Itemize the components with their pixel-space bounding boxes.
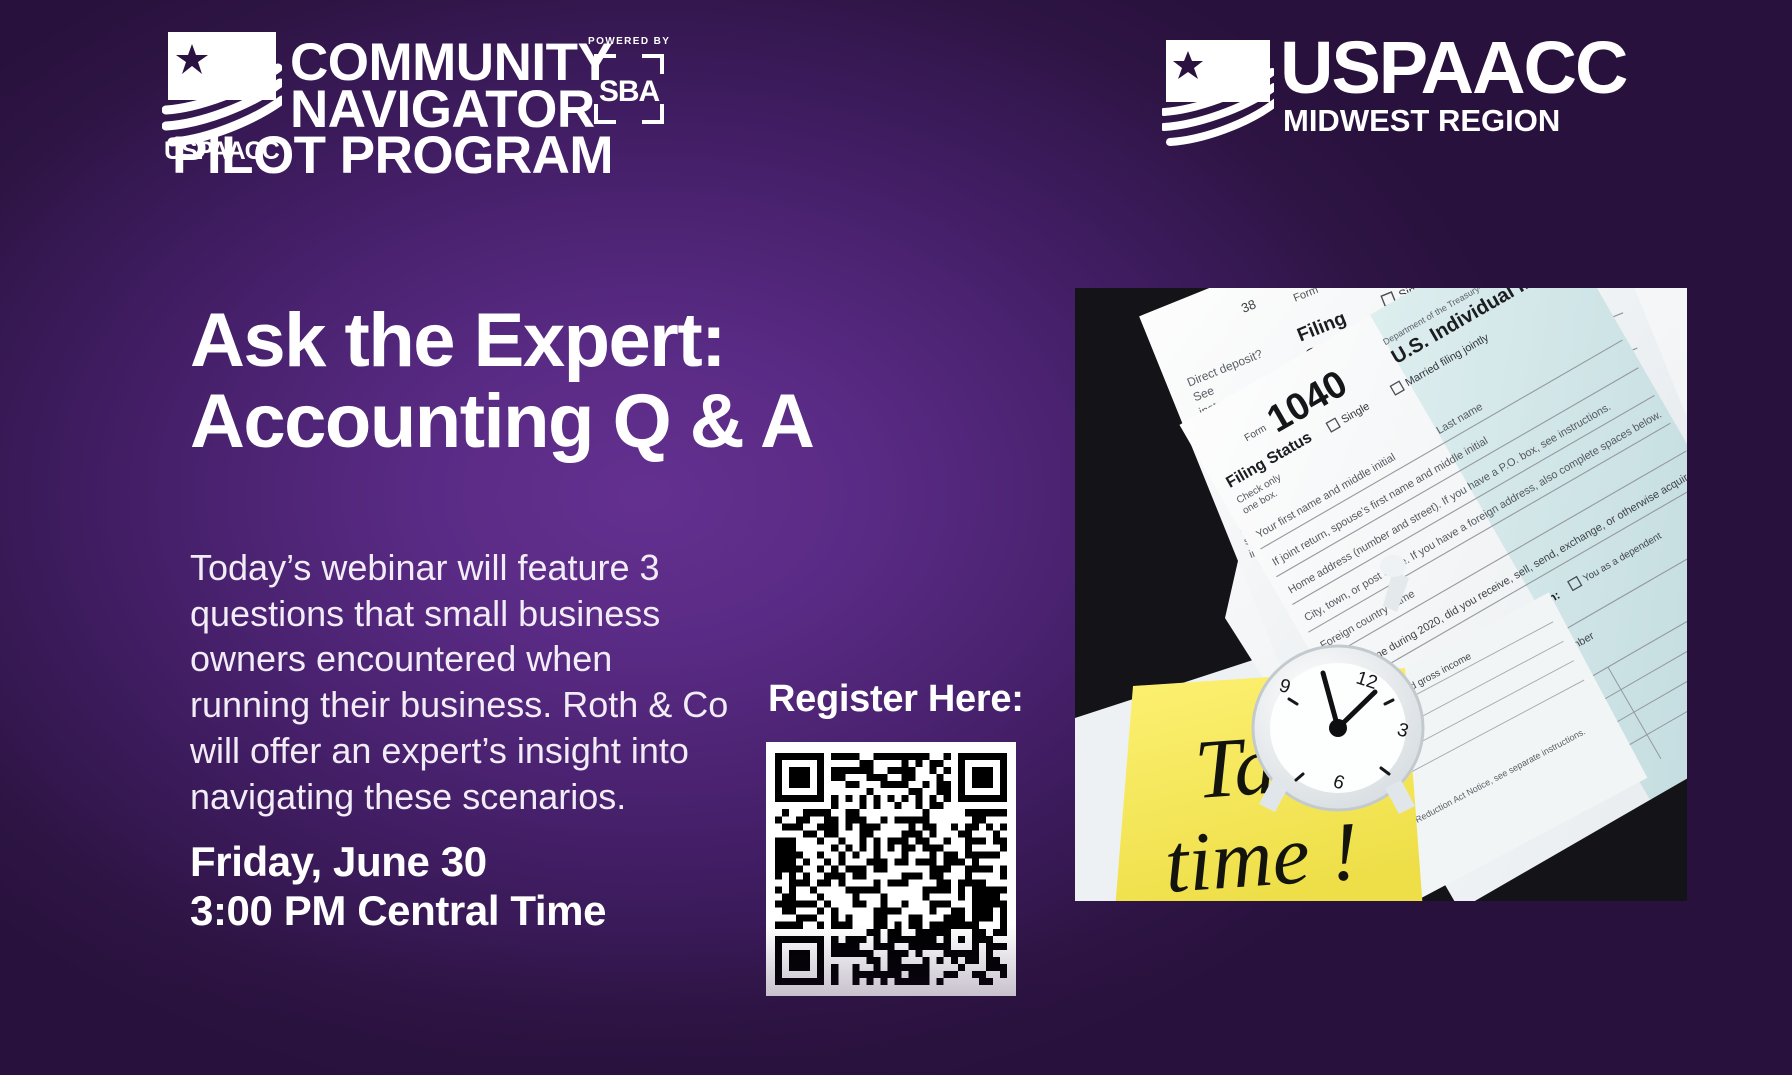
register-here-label: Register Here:: [768, 678, 1024, 721]
sba-icon: SBA: [592, 52, 666, 126]
title-line-1: Ask the Expert:: [190, 300, 813, 381]
event-time: 3:00 PM Central Time: [190, 887, 606, 936]
powered-by-sba: POWERED BY SBA: [588, 36, 670, 131]
event-date: Friday, June 30: [190, 838, 606, 887]
uspaacc-flag-icon-right: [1162, 36, 1274, 148]
uspaacc-name: USPAACC: [1280, 36, 1626, 100]
description-text: Today’s webinar will feature 3 questions…: [190, 545, 740, 819]
event-datetime: Friday, June 30 3:00 PM Central Time: [190, 838, 606, 935]
page-title: Ask the Expert: Accounting Q & A: [190, 300, 813, 463]
community-navigator-wordmark: COMMUNITY NAVIGATOR PILOT PROGRAM: [290, 40, 613, 180]
svg-text:SBA: SBA: [599, 75, 660, 108]
community-navigator-logo: USPAACC COMMUNITY NAVIGATOR PILOT PROGRA…: [162, 28, 613, 180]
powered-by-label: POWERED BY: [588, 36, 670, 47]
tax-forms-photo: 1040-SR Form Filing Status Check only on…: [1075, 288, 1687, 901]
uspaacc-wordmark: USPAACC MIDWEST REGION: [1280, 36, 1626, 139]
logo-line-pilot-program: PILOT PROGRAM: [172, 133, 613, 180]
webinar-poster: USPAACC COMMUNITY NAVIGATOR PILOT PROGRA…: [0, 0, 1792, 1075]
svg-text:time !: time !: [1162, 805, 1362, 901]
title-line-2: Accounting Q & A: [190, 381, 813, 462]
uspaacc-midwest-logo: USPAACC MIDWEST REGION: [1162, 36, 1626, 148]
qr-code[interactable]: [766, 742, 1016, 996]
